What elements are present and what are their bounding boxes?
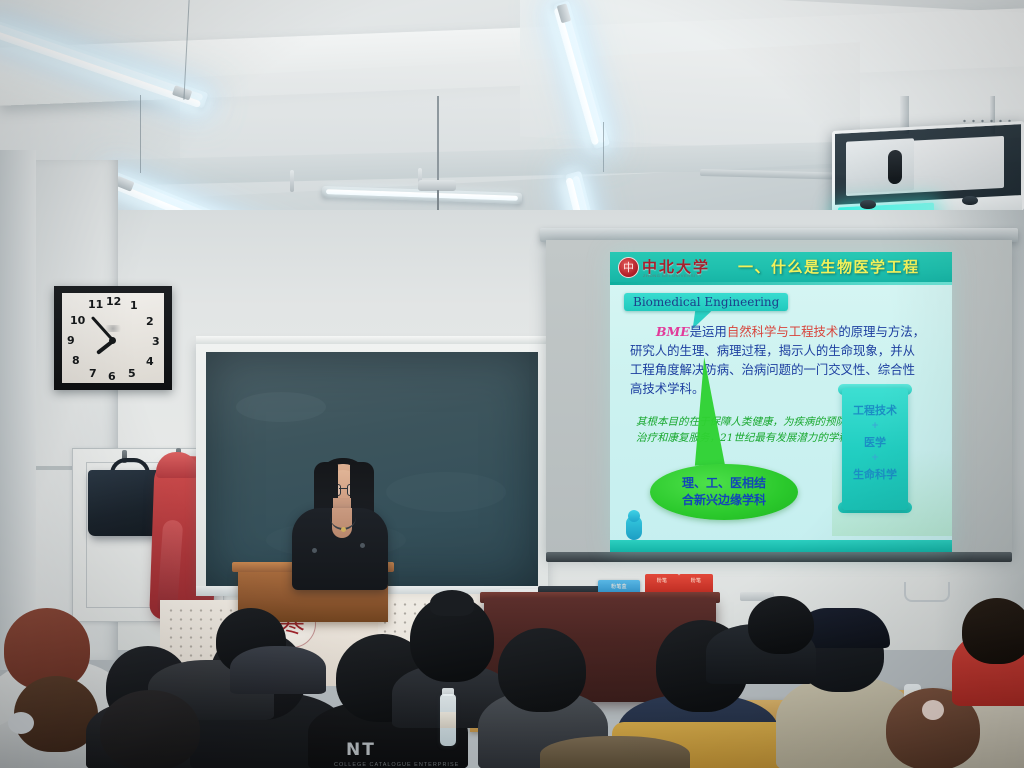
clock-numeral-2: 2 [146,315,154,328]
slide-header-strip [610,282,952,285]
wall-pillar [0,150,36,670]
audience-head-13 [748,596,814,654]
clock-numeral-3: 3 [152,335,160,348]
jacket-text: NT [346,740,376,760]
slide-body-line1b: 的原理与方法， [838,324,925,339]
presentation-slide: 中 中北大学 ZHONG BEI UNIVERSITY 一、什么是生物医学工程 … [610,252,952,552]
audience-head-12 [962,598,1024,664]
slide-green-ellipse: 理、工、医相结 合新兴边缘学科 [650,464,798,520]
slide-body-line2: 研究人的生理、病理过程，揭示人的生命现象，并从 [630,341,936,360]
audience-hair-tie-1 [8,712,34,734]
slide-body-line1a: 是运用 [690,324,727,339]
audience-head-8 [498,628,586,712]
light-hanger-5 [290,170,294,192]
scroll-plus-1: + [842,421,908,431]
clock-numeral-10: 10 [70,314,85,327]
wall-pipe-hook [904,582,950,602]
scroll-line3: 生命科学 [842,466,908,482]
wall-clock: 12 1 2 3 4 5 6 7 8 9 10 11 [54,286,172,390]
light-wire-2 [140,95,141,173]
scroll-line1: 工程技术 [842,402,908,418]
audience-bun-1 [430,590,474,616]
slide-callout-label: Biomedical Engineering [624,293,788,311]
scroll-line2: 医学 [842,434,908,450]
scroll-plus-2: + [842,453,908,463]
slide-body-line1-highlight: 自然科学与工程技术 [727,324,839,339]
projector-lens [888,150,902,185]
slide-abbr-bme: BME [656,324,690,339]
projector-foot-3 [962,196,978,205]
clock-brand [102,325,124,332]
slide-footer-bar [610,540,952,552]
slide-title: 一、什么是生物医学工程 [738,256,920,277]
speaker-button-1 [312,548,317,553]
penguin-mascot-icon [624,510,644,542]
clock-numeral-7: 7 [89,367,97,380]
audience-shoulders-15 [540,736,690,768]
slide-body-line3: 工程角度解决防病、治病问题的一门交叉性、综合性 [630,360,936,379]
clock-center-pin [109,337,116,344]
clock-numeral-5: 5 [128,367,136,380]
lecture-hall-photo: 12 1 2 3 4 5 6 7 8 9 10 11 [0,0,1024,768]
clock-numeral-11: 11 [88,298,103,311]
slide-scroll-banner: 工程技术 + 医学 + 生命科学 [842,388,908,510]
projector-foot-1 [860,200,876,209]
speaker-button-2 [360,543,365,548]
slide-ellipse-line2: 合新兴边缘学科 [650,492,798,509]
slide-ellipse-line1: 理、工、医相结 [650,475,798,492]
clock-numeral-9: 9 [67,334,75,347]
university-wordmark-sub: ZHONG BEI UNIVERSITY [643,273,702,278]
audience-head-14 [100,690,200,768]
blackboard-top-trim [196,336,548,344]
clock-numeral-8: 8 [72,354,80,367]
clock-numeral-12: 12 [106,295,121,308]
water-bottle-label [440,712,456,728]
clock-numeral-1: 1 [130,299,138,312]
screen-bottom-bar[interactable] [546,552,1012,562]
projector-panel [846,138,914,194]
clock-numeral-4: 4 [146,355,154,368]
green-arrow-icon [689,356,725,465]
light-wire-3 [603,122,604,172]
speaker-pendant [341,527,346,532]
university-seal-icon: 中 [618,257,639,278]
audience-hair-tie-2 [922,700,944,720]
audience-shoulders-14 [230,646,326,694]
jacket-subtext: COLLEGE CATALOGUE ENTERPRISE [334,762,459,768]
clock-numeral-6: 6 [108,370,116,383]
